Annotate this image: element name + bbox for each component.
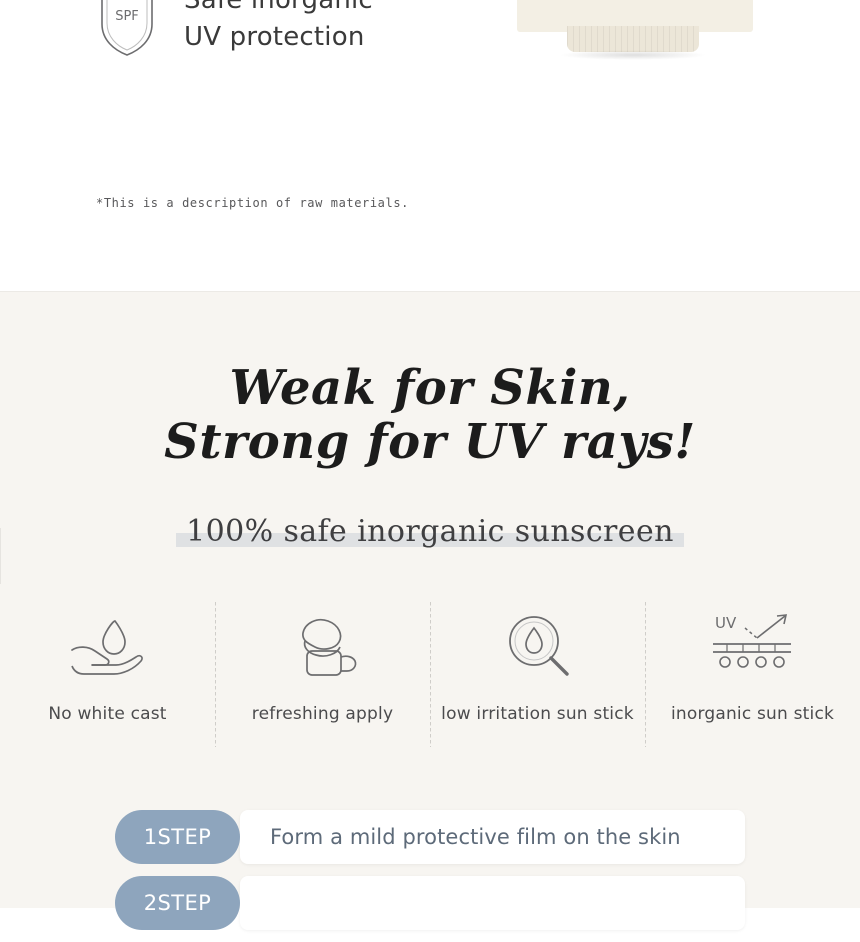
magnifier-drop-icon xyxy=(503,608,573,686)
svg-text:SPF: SPF xyxy=(115,9,139,24)
promo-headline: Weak for Skin, Strong for UV rays! xyxy=(0,362,860,470)
promo-headline-line-2: Strong for UV rays! xyxy=(0,416,860,470)
promo-subheadline-wrap: 100% safe inorganic sunscreen xyxy=(0,514,860,549)
spf-shield-icon: SPF xyxy=(96,0,158,60)
step-row: Form a mild protective film on the skin … xyxy=(115,810,745,864)
spf-feature-line-2: UV protection xyxy=(184,19,373,56)
promo-headline-line-1: Weak for Skin, xyxy=(0,362,860,416)
step-row: 2STEP xyxy=(115,876,745,930)
product-shadow xyxy=(559,50,707,60)
promo-section: Weak for Skin, Strong for UV rays! 100% … xyxy=(0,292,860,908)
feature-inorganic-sun-stick: UV inorganic sun stick xyxy=(645,602,860,762)
step-list: Form a mild protective film on the skin … xyxy=(115,810,745,942)
step-card xyxy=(240,876,745,930)
feature-label: low irritation sun stick xyxy=(441,704,634,724)
feature-no-white-cast: No white cast xyxy=(0,602,215,762)
step-description: Form a mild protective film on the skin xyxy=(270,825,681,849)
product-photo: 22g / 0.78 oz. xyxy=(515,0,755,76)
promo-subheadline-text: 100% safe inorganic sunscreen xyxy=(186,514,674,549)
svg-text:UV: UV xyxy=(715,614,737,632)
raw-material-note: *This is a description of raw materials. xyxy=(96,196,409,210)
step-card: Form a mild protective film on the skin xyxy=(240,810,745,864)
spf-feature-line-1: Safe inorganic xyxy=(184,0,373,19)
uv-deflect-icon: UV xyxy=(711,608,795,686)
product-intro-section: SPF Safe inorganic UV protection 22g / 0… xyxy=(0,0,860,292)
feature-label: inorganic sun stick xyxy=(671,704,834,724)
feature-label: refreshing apply xyxy=(252,704,393,724)
feature-label: No white cast xyxy=(48,704,166,724)
feature-low-irritation: low irritation sun stick xyxy=(430,602,645,762)
step-chip: 1STEP xyxy=(115,810,240,864)
spf-feature-block: SPF Safe inorganic UV protection xyxy=(96,0,373,60)
promo-subheadline: 100% safe inorganic sunscreen xyxy=(180,514,680,549)
step-chip: 2STEP xyxy=(115,876,240,930)
spf-feature-text: Safe inorganic UV protection xyxy=(184,0,373,56)
hand-drop-icon xyxy=(68,608,148,686)
feature-row: No white cast refreshing apply xyxy=(0,602,860,762)
product-bottle-cap xyxy=(567,26,699,52)
feature-refreshing-apply: refreshing apply xyxy=(215,602,430,762)
cushion-hand-icon xyxy=(283,608,363,686)
